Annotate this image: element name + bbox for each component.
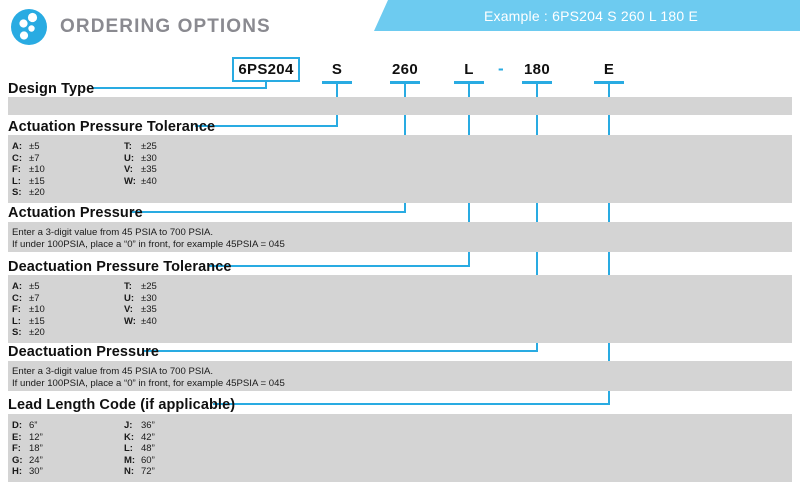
code-segment-design-type: 6PS204 <box>232 61 300 78</box>
option-item: K:42” <box>124 432 155 444</box>
page-header: ORDERING OPTIONS Example : 6PS204 S 260 … <box>0 0 800 46</box>
deactuation-tolerance-column-2: T:±25 U:±30 V:±35 W:±40 <box>124 281 157 327</box>
page-title: ORDERING OPTIONS <box>60 16 271 38</box>
dots-circle-icon <box>10 8 48 46</box>
actuation-tolerance-column-2: T:±25 U:±30 V:±35 W:±40 <box>124 141 157 187</box>
code-underline-actuation-tolerance <box>322 81 352 84</box>
code-segment-deactuation-pressure: 180 <box>512 61 562 78</box>
option-item: A:±5 <box>12 281 45 293</box>
section-label-deactuation-tolerance: Deactuation Pressure Tolerance <box>8 259 232 275</box>
band-spacer-1 <box>8 97 792 115</box>
section-label-lead-length: Lead Length Code (if applicable) <box>8 397 235 413</box>
option-item: V:±35 <box>124 164 157 176</box>
note-line: If under 100PSIA, place a “0” in front, … <box>12 239 285 251</box>
section-label-design-type: Design Type <box>8 81 94 97</box>
option-item: D:6” <box>12 420 43 432</box>
lead-length-column-1: D:6” E:12” F:18” G:24” H:30” <box>12 420 43 478</box>
option-item: F:18” <box>12 443 43 455</box>
code-segment-actuation-pressure: 260 <box>380 61 430 78</box>
option-item: G:24” <box>12 455 43 467</box>
section-label-deactuation-pressure: Deactuation Pressure <box>8 344 159 360</box>
code-separator-dash: - <box>498 59 504 79</box>
option-item: J:36” <box>124 420 155 432</box>
note-line: If under 100PSIA, place a “0” in front, … <box>12 378 285 390</box>
example-banner-label: Example : 6PS204 S 260 L 180 E <box>374 0 800 31</box>
option-item: T:±25 <box>124 141 157 153</box>
example-banner: Example : 6PS204 S 260 L 180 E <box>374 0 800 31</box>
option-item: A:±5 <box>12 141 45 153</box>
option-item: F:±10 <box>12 304 45 316</box>
section-label-actuation-pressure: Actuation Pressure <box>8 205 143 221</box>
code-segment-actuation-tolerance: S <box>312 61 362 78</box>
note-line: Enter a 3-digit value from 45 PSIA to 70… <box>12 366 285 378</box>
option-item: S:±20 <box>12 327 45 339</box>
option-item: U:±30 <box>124 293 157 305</box>
part-number-row: 6PS204 S 260 L - 180 E <box>0 55 800 95</box>
code-segment-lead-length: E <box>584 61 634 78</box>
note-line: Enter a 3-digit value from 45 PSIA to 70… <box>12 227 285 239</box>
option-item: L:±15 <box>12 176 45 188</box>
lead-length-column-2: J:36” K:42” L:48” M:60” N:72” <box>124 420 155 478</box>
section-label-actuation-tolerance: Actuation Pressure Tolerance <box>8 119 215 135</box>
option-item: F:±10 <box>12 164 45 176</box>
actuation-pressure-note: Enter a 3-digit value from 45 PSIA to 70… <box>12 227 285 252</box>
option-item: V:±35 <box>124 304 157 316</box>
option-item: U:±30 <box>124 153 157 165</box>
option-item: H:30” <box>12 466 43 478</box>
code-underline-lead-length <box>594 81 624 84</box>
code-underline-actuation-pressure <box>390 81 420 84</box>
option-item: W:±40 <box>124 176 157 188</box>
actuation-tolerance-column-1: A:±5 C:±7 F:±10 L:±15 S:±20 <box>12 141 45 199</box>
option-item: C:±7 <box>12 293 45 305</box>
option-item: L:48” <box>124 443 155 455</box>
option-item: N:72” <box>124 466 155 478</box>
option-item: L:±15 <box>12 316 45 328</box>
option-item: M:60” <box>124 455 155 467</box>
deactuation-tolerance-column-1: A:±5 C:±7 F:±10 L:±15 S:±20 <box>12 281 45 339</box>
option-item: T:±25 <box>124 281 157 293</box>
code-underline-deactuation-tolerance <box>454 81 484 84</box>
option-item: E:12” <box>12 432 43 444</box>
option-item: S:±20 <box>12 187 45 199</box>
option-item: C:±7 <box>12 153 45 165</box>
code-underline-deactuation-pressure <box>522 81 552 84</box>
option-item: W:±40 <box>124 316 157 328</box>
code-segment-deactuation-tolerance: L <box>444 61 494 78</box>
deactuation-pressure-note: Enter a 3-digit value from 45 PSIA to 70… <box>12 366 285 391</box>
